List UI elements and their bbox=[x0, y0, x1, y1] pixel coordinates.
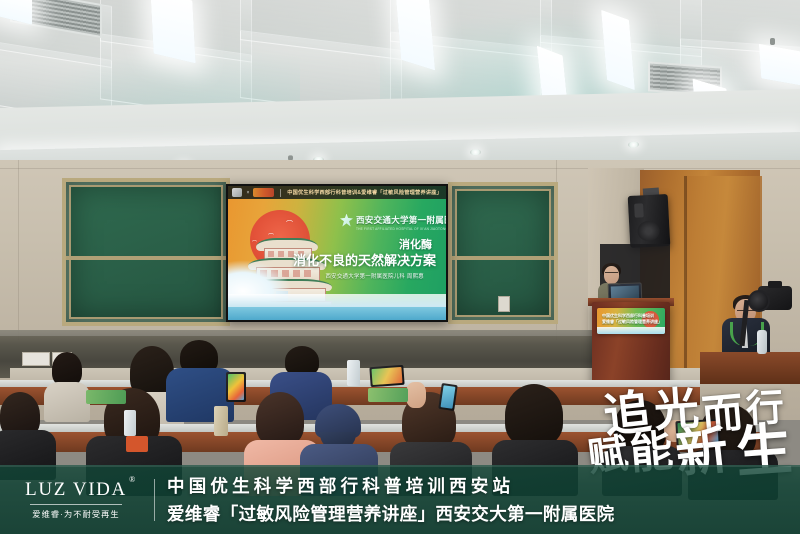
speaker-horn bbox=[634, 203, 644, 217]
camera-lens bbox=[748, 290, 770, 312]
blackboard-left bbox=[62, 178, 230, 326]
brand-name-text: LUZ VIDA bbox=[25, 479, 127, 500]
smartphone bbox=[369, 365, 404, 387]
desk-placard bbox=[86, 390, 126, 404]
brand-divider-rule bbox=[30, 504, 122, 505]
wood-panel-seam bbox=[684, 176, 687, 386]
pa-speaker bbox=[628, 194, 671, 248]
raised-hand bbox=[406, 382, 426, 408]
slide-title-line2: 消化不良的天然解决方案 bbox=[293, 250, 436, 269]
camera-flash-mount bbox=[768, 281, 782, 288]
downlight bbox=[470, 149, 481, 155]
banner-line-2: 爱维睿「过敏风险管理营养讲座」西安交大第一附属医院 bbox=[167, 501, 615, 526]
screenshot-root: × 中国优生科学西部行科普培训&爱维睿「过敏风险管理营养讲座」 ︵ ︵ ︵ bbox=[0, 0, 800, 534]
audience-person-hair bbox=[505, 384, 563, 446]
event-banner: LUZ VIDA ® 爱维睿·为不耐受再生 中国优生科学西部行科普培训西安站 爱… bbox=[0, 465, 800, 534]
brand-lockup: LUZ VIDA ® 爱维睿·为不耐受再生 bbox=[0, 479, 152, 520]
thermos-bottle bbox=[214, 406, 228, 436]
bird-icon: ︵ bbox=[268, 230, 274, 236]
smartphone bbox=[226, 372, 246, 402]
times-symbol: × bbox=[246, 190, 249, 196]
slide-header-bar: × 中国优生科学西部行科普培训&爱维睿「过敏风险管理营养讲座」 bbox=[228, 186, 446, 199]
ceiling-light-panel bbox=[395, 0, 435, 70]
banner-divider bbox=[154, 479, 155, 521]
organizer-logo-icon bbox=[232, 188, 242, 197]
projection-screen[interactable]: × 中国优生科学西部行科普培训&爱维睿「过敏风险管理营养讲座」 ︵ ︵ ︵ bbox=[226, 184, 448, 322]
slide-header-text: 中国优生科学西部行科普培训&爱维睿「过敏风险管理营养讲座」 bbox=[287, 189, 442, 196]
front-desk-right bbox=[700, 352, 800, 384]
desk-placard bbox=[368, 388, 408, 402]
bird-icon: ︵ bbox=[286, 216, 293, 223]
brand-tagline: 爱维睿·为不耐受再生 bbox=[32, 508, 119, 520]
hospital-star-icon bbox=[340, 214, 353, 227]
audience-person-body bbox=[44, 382, 90, 422]
banner-line-1: 中国优生科学西部行科普培训西安站 bbox=[167, 473, 615, 498]
audience-person-hair bbox=[52, 352, 82, 386]
phone-screen bbox=[228, 374, 244, 400]
speaker-cone bbox=[637, 220, 660, 241]
presentation-slide: × 中国优生科学西部行科普培训&爱维睿「过敏风险管理营养讲座」 ︵ ︵ ︵ bbox=[228, 186, 446, 320]
phone-screen bbox=[441, 385, 456, 408]
phone-screen bbox=[677, 421, 718, 445]
lanyard bbox=[126, 436, 148, 452]
water-bottle bbox=[757, 330, 767, 354]
hospital-logo: 西安交通大学第一附属医院 bbox=[340, 213, 446, 227]
downlight bbox=[628, 141, 639, 147]
ceiling-light-panel bbox=[150, 0, 195, 63]
wave-illustration-bottom-2 bbox=[228, 307, 446, 320]
luz-vida-logo-icon bbox=[253, 188, 274, 197]
wainscot-highlight bbox=[0, 330, 640, 336]
audience-person-hair bbox=[256, 392, 304, 446]
sprinkler-head bbox=[770, 38, 775, 45]
banner-text-block: 中国优生科学西部行科普培训西安站 爱维睿「过敏风险管理营养讲座」西安交大第一附属… bbox=[167, 473, 615, 526]
brand-name: LUZ VIDA ® bbox=[25, 479, 127, 501]
divider bbox=[280, 189, 281, 197]
registered-trademark-icon: ® bbox=[129, 475, 137, 484]
hospital-logo-subtext: THE FIRST AFFILIATED HOSPITAL OF XI'AN J… bbox=[356, 227, 446, 231]
banner-top-edge bbox=[0, 465, 800, 467]
speaker-person-glasses bbox=[605, 272, 618, 276]
water-bottle bbox=[347, 360, 360, 386]
hospital-logo-text: 西安交通大学第一附属医院 bbox=[356, 214, 446, 226]
wall-outlet bbox=[498, 296, 510, 312]
podium-sign-wave bbox=[597, 327, 665, 334]
wall-socket bbox=[22, 352, 50, 366]
blackboard-divider bbox=[66, 256, 226, 260]
blackboard-divider bbox=[452, 256, 554, 260]
podium-sign-text: 中国优生科学西部行科普培训 爱维睿「过敏风险管理营养讲座」 bbox=[602, 313, 662, 325]
phone-screen bbox=[371, 367, 402, 385]
podium-sign: 中国优生科学西部行科普培训 爱维睿「过敏风险管理营养讲座」 bbox=[597, 308, 665, 334]
smartphone bbox=[675, 419, 720, 447]
slide-byline: 西安交通大学第一附属医院儿科 周熙惠 bbox=[325, 272, 424, 280]
podium-sign-line2: 爱维睿「过敏风险管理营养讲座」 bbox=[602, 319, 662, 325]
water-bottle bbox=[124, 410, 136, 436]
